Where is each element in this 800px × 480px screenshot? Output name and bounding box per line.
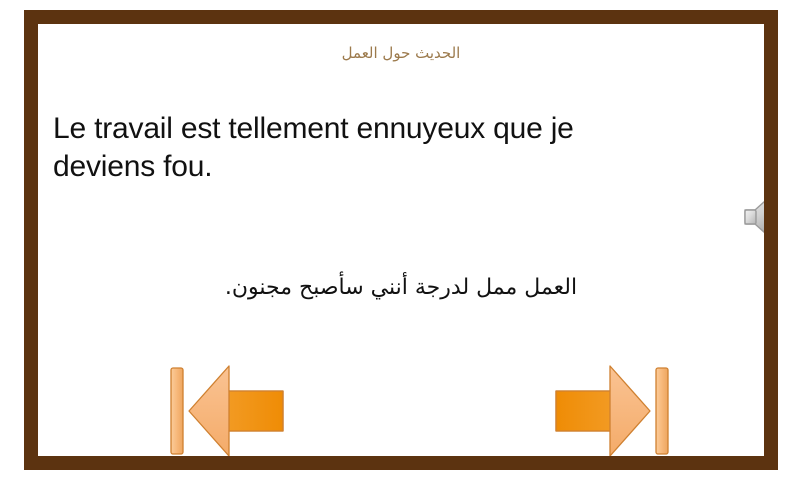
speaker-icon	[724, 184, 764, 250]
slide-frame: الحديث حول العمل Le travail est tellemen…	[24, 10, 778, 470]
target-sentence: العمل ممل لدرجة أنني سأصبح مجنون.	[68, 273, 734, 303]
skip-next-arrow-icon	[542, 358, 672, 456]
page-title: الحديث حول العمل	[38, 43, 764, 63]
source-sentence: Le travail est tellement ennuyeux que je…	[53, 110, 673, 186]
skip-previous-arrow-icon	[167, 358, 297, 456]
previous-button[interactable]	[167, 358, 297, 456]
play-audio-button[interactable]	[724, 184, 764, 250]
next-button[interactable]	[542, 358, 672, 456]
slide-page: الحديث حول العمل Le travail est tellemen…	[38, 24, 764, 456]
